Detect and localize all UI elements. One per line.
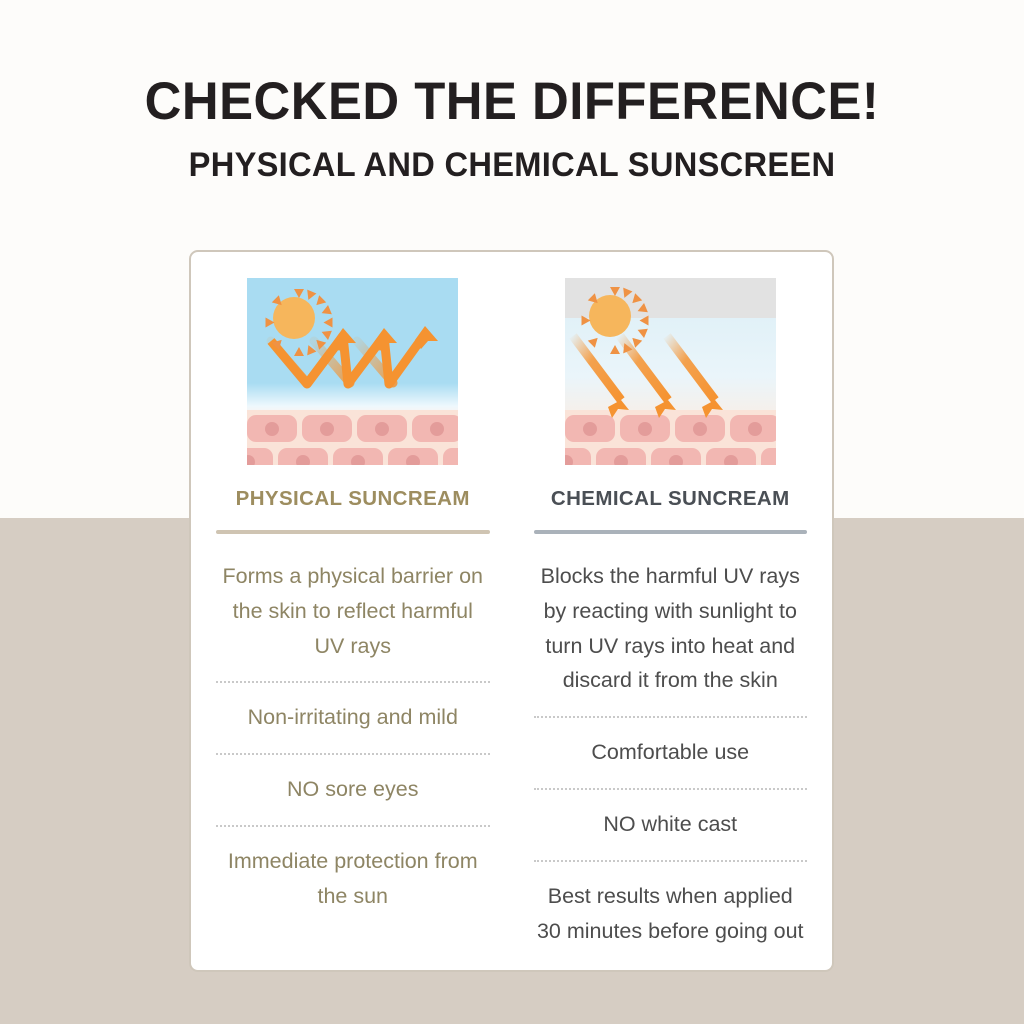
comparison-columns: PHYSICAL SUNCREAM Forms a physical barri… [191, 252, 832, 970]
feature-item: Immediate protection from the sun [216, 827, 490, 932]
sun-ray [610, 345, 620, 354]
feature-list-physical: Forms a physical barrier on the skin to … [216, 534, 490, 932]
column-physical: PHYSICAL SUNCREAM Forms a physical barri… [191, 252, 512, 970]
sun-icon [577, 283, 643, 349]
heading-block: CHECKED THE DIFFERENCE! PHYSICAL AND CHE… [0, 0, 1024, 183]
physical-sunscreen-diagram [247, 278, 458, 465]
feature-item: Best results when applied 30 minutes bef… [534, 862, 808, 967]
sun-ray [294, 347, 304, 356]
sun-ray [324, 318, 333, 328]
page-subtitle: PHYSICAL AND CHEMICAL SUNSCREEN [20, 130, 1003, 184]
page-title: CHECKED THE DIFFERENCE! [20, 0, 1003, 130]
feature-item: Non-irritating and mild [216, 683, 490, 753]
feature-list-chemical: Blocks the harmful UV rays by reacting w… [534, 534, 808, 967]
feature-item: Forms a physical barrier on the skin to … [216, 542, 490, 681]
sun-ray [588, 334, 601, 347]
sun-ray [610, 287, 620, 296]
sun-icon [261, 285, 327, 351]
feature-item: Blocks the harmful UV rays by reacting w… [534, 542, 808, 716]
sun-ray [639, 316, 648, 326]
column-header-physical: PHYSICAL SUNCREAM [236, 487, 470, 511]
sun-ray [266, 318, 275, 328]
sun-ray [272, 336, 285, 349]
column-header-chemical: CHEMICAL SUNCREAM [551, 487, 790, 511]
sun-ray [294, 289, 304, 298]
feature-item: Comfortable use [534, 718, 808, 788]
chemical-sunscreen-diagram [565, 278, 776, 465]
column-chemical: CHEMICAL SUNCREAM Blocks the harmful UV … [512, 252, 833, 970]
comparison-card: PHYSICAL SUNCREAM Forms a physical barri… [189, 250, 834, 972]
sun-ray [581, 316, 590, 326]
feature-item: NO sore eyes [216, 755, 490, 825]
feature-item: NO white cast [534, 790, 808, 860]
